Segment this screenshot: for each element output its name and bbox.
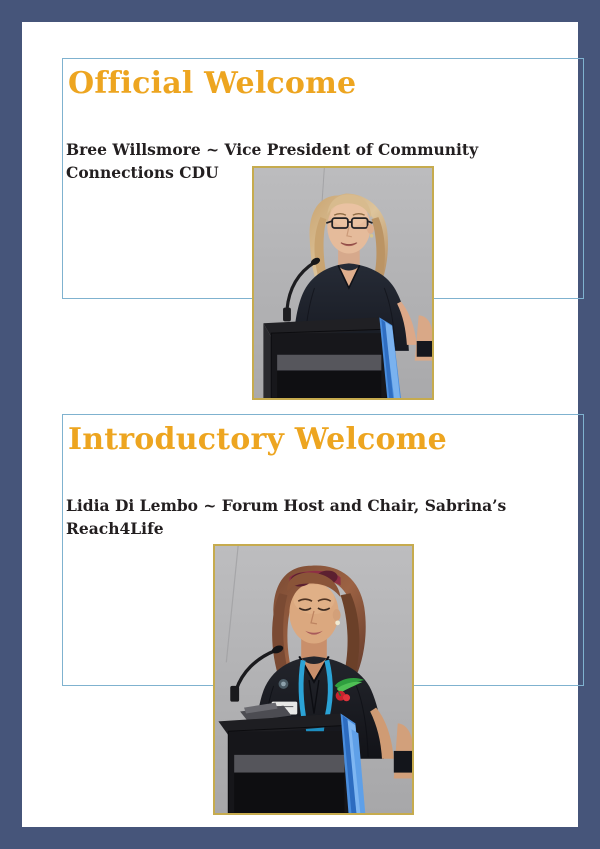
bree-willsmore-photo [252, 166, 434, 400]
lidia-di-lembo-photo [213, 544, 414, 815]
section-subtitle-introductory-welcome: Lidia Di Lembo ~ Forum Host and Chair, S… [66, 494, 566, 540]
page-frame: Official Welcome Bree Willsmore ~ Vice P… [0, 0, 600, 849]
section-heading-introductory-welcome: Introductory Welcome [68, 423, 447, 457]
section-heading-official-welcome: Official Welcome [68, 67, 356, 101]
page-sheet: Official Welcome Bree Willsmore ~ Vice P… [22, 22, 578, 827]
